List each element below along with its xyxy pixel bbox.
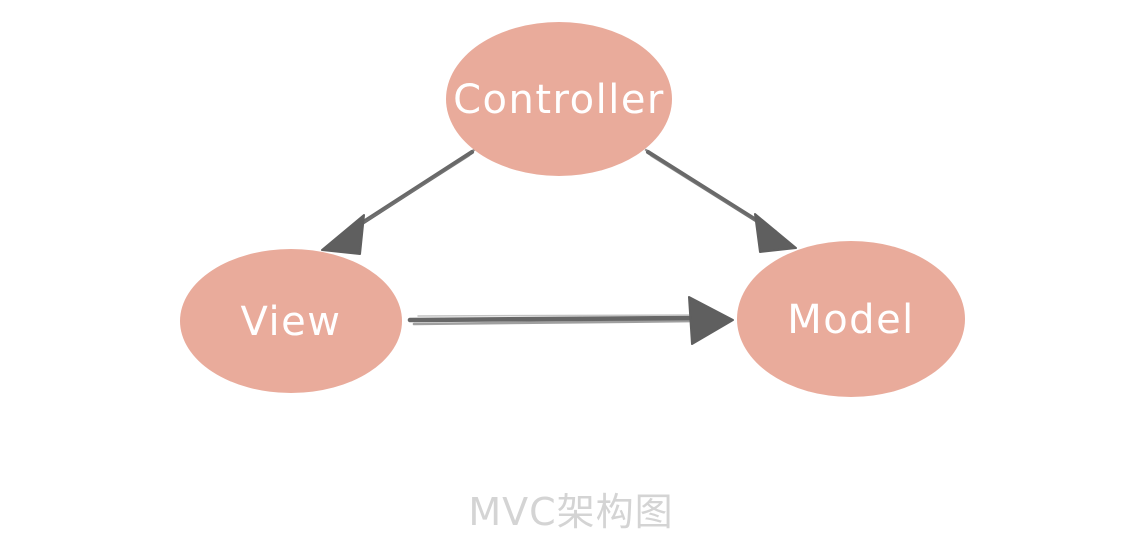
edge-controller-to-model-shaft-2 (646, 150, 771, 229)
node-view-label: View (241, 299, 342, 345)
edge-view-to-model-shaft (410, 318, 700, 320)
edge-view-to-model-arrowhead (689, 297, 733, 344)
node-model[interactable]: Model (737, 241, 965, 397)
diagram-canvas: Controller View Model MVC架构图 (0, 0, 1142, 557)
edge-controller-to-model[interactable] (646, 150, 796, 252)
edge-view-to-model[interactable] (410, 297, 733, 344)
node-model-label: Model (787, 297, 915, 343)
node-view[interactable]: View (180, 249, 402, 393)
diagram-caption: MVC架构图 (468, 490, 673, 534)
edge-controller-to-view-arrowhead (322, 215, 364, 254)
node-controller-label: Controller (453, 77, 665, 123)
edge-controller-to-view-shaft-2 (349, 150, 474, 231)
edge-controller-to-model-arrowhead (755, 214, 796, 252)
node-controller[interactable]: Controller (446, 22, 672, 176)
mvc-diagram: Controller View Model MVC架构图 (0, 0, 1142, 557)
edge-view-to-model-shaft-3 (418, 315, 696, 316)
edge-controller-to-view[interactable] (322, 150, 474, 254)
